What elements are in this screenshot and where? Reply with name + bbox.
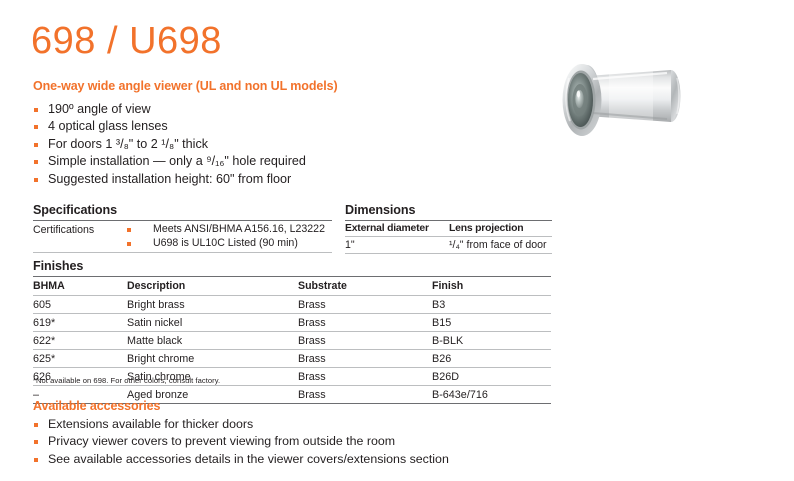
table-row: 619* Satin nickel Brass B15 <box>33 314 551 332</box>
accessory-text: Privacy viewer covers to prevent viewing… <box>48 434 395 448</box>
accessory-text: Extensions available for thicker doors <box>48 417 253 431</box>
square-bullet-icon <box>34 108 38 112</box>
cell-substrate: Brass <box>298 368 432 386</box>
cell-substrate: Brass <box>298 350 432 368</box>
cell-description: Matte black <box>127 332 298 350</box>
product-datasheet-page: 698 / U698 One-way wide angle viewer (UL… <box>0 0 794 481</box>
spec-item-text: U698 is UL10C Listed (90 min) <box>153 237 298 249</box>
cell-finish: B-BLK <box>432 332 551 350</box>
square-bullet-icon <box>34 178 38 182</box>
cell-substrate: Brass <box>298 314 432 332</box>
cell-description: Bright chrome <box>127 350 298 368</box>
dimensions-heading: Dimensions <box>345 203 552 217</box>
cell-substrate: Brass <box>298 386 432 404</box>
feature-text: Suggested installation height: 60" from … <box>48 172 291 186</box>
spec-label: Certifications <box>33 221 127 253</box>
product-image <box>549 48 739 158</box>
cell-finish: B-643e/716 <box>432 386 551 404</box>
list-item: For doors 1 ³/₈" to 2 ¹/₈" thick <box>33 136 306 153</box>
specifications-table: Certifications Meets ANSI/BHMA A156.16, … <box>33 220 332 253</box>
table-row: 1" ¹/₄" from face of door <box>345 237 552 254</box>
list-item: 4 optical glass lenses <box>33 118 306 135</box>
specifications-section: Specifications Certifications Meets ANSI… <box>33 203 332 253</box>
door-viewer-peephole-icon <box>549 48 739 158</box>
column-header-bhma: BHMA <box>33 277 127 296</box>
dimensions-section: Dimensions External diameter Lens projec… <box>345 203 552 254</box>
accessories-list: Extensions available for thicker doors P… <box>33 416 449 468</box>
table-row: Certifications Meets ANSI/BHMA A156.16, … <box>33 221 332 253</box>
spec-values: Meets ANSI/BHMA A156.16, L23222 U698 is … <box>127 221 332 253</box>
column-header-lens-projection: Lens projection <box>449 221 552 237</box>
table-header-row: External diameter Lens projection <box>345 221 552 237</box>
list-item: Privacy viewer covers to prevent viewing… <box>33 433 449 450</box>
cell-lens-projection: ¹/₄" from face of door <box>449 237 552 254</box>
square-bullet-icon <box>127 228 131 232</box>
list-item: See available accessories details in the… <box>33 451 449 468</box>
accessories-heading: Available accessories <box>33 399 160 413</box>
cell-substrate: Brass <box>298 296 432 314</box>
list-item: 190º angle of view <box>33 101 306 118</box>
list-item: Suggested installation height: 60" from … <box>33 171 306 188</box>
column-header-finish: Finish <box>432 277 551 296</box>
cell-bhma: 605 <box>33 296 127 314</box>
table-row: 605 Bright brass Brass B3 <box>33 296 551 314</box>
cell-description: Bright brass <box>127 296 298 314</box>
cell-bhma: 625* <box>33 350 127 368</box>
cell-substrate: Brass <box>298 332 432 350</box>
feature-text: 4 optical glass lenses <box>48 119 168 133</box>
square-bullet-icon <box>34 440 38 444</box>
spec-value-list: Meets ANSI/BHMA A156.16, L23222 U698 is … <box>127 222 332 250</box>
dimensions-table: External diameter Lens projection 1" ¹/₄… <box>345 220 552 254</box>
cell-description: Satin nickel <box>127 314 298 332</box>
column-header-substrate: Substrate <box>298 277 432 296</box>
cell-bhma: 619* <box>33 314 127 332</box>
table-row: 625* Bright chrome Brass B26 <box>33 350 551 368</box>
table-header-row: BHMA Description Substrate Finish <box>33 277 551 296</box>
accessory-text: See available accessories details in the… <box>48 452 449 466</box>
spec-item-text: Meets ANSI/BHMA A156.16, L23222 <box>153 223 325 235</box>
specifications-heading: Specifications <box>33 203 332 217</box>
finishes-heading: Finishes <box>33 259 551 273</box>
cell-external-diameter: 1" <box>345 237 449 254</box>
square-bullet-icon <box>34 125 38 129</box>
cell-bhma: 622* <box>33 332 127 350</box>
list-item: U698 is UL10C Listed (90 min) <box>127 236 332 250</box>
finishes-footnote: *Not available on 698. For other colors,… <box>33 376 220 386</box>
feature-text: Simple installation — only a ⁹/₁₆" hole … <box>48 154 306 168</box>
feature-text: For doors 1 ³/₈" to 2 ¹/₈" thick <box>48 137 208 151</box>
cell-finish: B26 <box>432 350 551 368</box>
list-item: Meets ANSI/BHMA A156.16, L23222 <box>127 222 332 236</box>
feature-list: 190º angle of view 4 optical glass lense… <box>33 101 306 188</box>
product-subtitle: One-way wide angle viewer (UL and non UL… <box>33 79 338 93</box>
list-item: Extensions available for thicker doors <box>33 416 449 433</box>
cell-finish: B3 <box>432 296 551 314</box>
square-bullet-icon <box>34 143 38 147</box>
square-bullet-icon <box>34 423 38 427</box>
cell-finish: B15 <box>432 314 551 332</box>
square-bullet-icon <box>34 160 38 164</box>
cell-finish: B26D <box>432 368 551 386</box>
square-bullet-icon <box>34 458 38 462</box>
list-item: Simple installation — only a ⁹/₁₆" hole … <box>33 153 306 170</box>
page-title: 698 / U698 <box>31 19 222 63</box>
table-row: 622* Matte black Brass B-BLK <box>33 332 551 350</box>
column-header-external-diameter: External diameter <box>345 221 449 237</box>
feature-text: 190º angle of view <box>48 102 151 116</box>
column-header-description: Description <box>127 277 298 296</box>
square-bullet-icon <box>127 242 131 246</box>
